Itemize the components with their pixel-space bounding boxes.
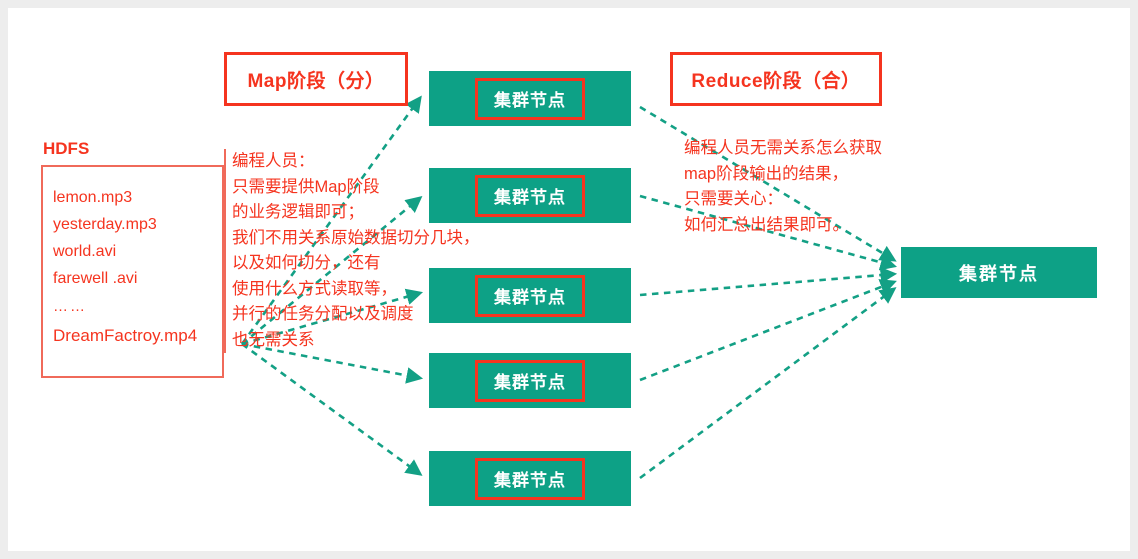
note-line: 以及如何切分，还有 [232,251,442,277]
map-cluster-node: 集群节点 [429,168,631,223]
diagram-stage: Map阶段（分） Reduce阶段（合） HDFS lemon.mp3 yest… [8,8,1138,559]
list-item: lemon.mp3 [53,184,222,211]
map-cluster-node: 集群节点 [429,71,631,126]
node-label: 集群节点 [494,86,566,111]
reduce-phase-box: Reduce阶段（合） [670,52,882,106]
node-label: 集群节点 [494,466,566,491]
note-line: 如何汇总出结果即可。 [684,213,944,239]
list-item: world.avi [53,238,222,265]
node-frame: 集群节点 [959,260,1039,286]
note-line: 只需要关心： [684,187,944,213]
hdfs-file-list: lemon.mp3 yesterday.mp3 world.avi farewe… [41,165,224,378]
reduce-phase-label: Reduce阶段（合） [691,66,860,93]
hdfs-title: HDFS [43,139,89,159]
arrow-merge-3 [640,282,894,380]
list-item-ellipsis: …… [53,292,222,322]
map-cluster-node: 集群节点 [429,451,631,506]
map-cluster-node: 集群节点 [429,268,631,323]
node-highlight-frame: 集群节点 [475,78,585,120]
note-line: 编程人员： [232,149,442,175]
note-line: 的业务逻辑即可； [232,200,442,226]
note-line: 也无需关系 [232,328,442,354]
map-phase-box: Map阶段（分） [224,52,408,106]
node-label: 集群节点 [494,283,566,308]
reduce-phase-note: 编程人员无需关系怎么获取 map阶段输出的结果， 只需要关心： 如何汇总出结果即… [684,136,944,238]
list-item: DreamFactroy.mp4 [53,322,222,349]
node-highlight-frame: 集群节点 [475,360,585,402]
node-highlight-frame: 集群节点 [475,275,585,317]
list-item: farewell .avi [53,265,222,292]
node-label: 集群节点 [494,368,566,393]
note-line: 使用什么方式读取等， [232,277,442,303]
arrow-split-4 [242,344,420,474]
node-highlight-frame: 集群节点 [475,175,585,217]
node-highlight-frame: 集群节点 [475,458,585,500]
note-line: 并行的任务分配以及调度 [232,302,442,328]
note-line: 编程人员无需关系怎么获取 [684,136,944,162]
node-label: 集群节点 [959,260,1039,286]
map-phase-note: 编程人员： 只需要提供Map阶段 的业务逻辑即可； 我们不用关系原始数据切分几块… [224,149,442,353]
node-label: 集群节点 [494,183,566,208]
note-line: map阶段输出的结果， [684,162,944,188]
map-cluster-node: 集群节点 [429,353,631,408]
diagram-canvas: Map阶段（分） Reduce阶段（合） HDFS lemon.mp3 yest… [0,0,1138,559]
arrow-merge-4 [640,289,894,478]
reduce-cluster-node: 集群节点 [901,247,1097,298]
map-phase-label: Map阶段（分） [247,66,384,93]
list-item: yesterday.mp3 [53,211,222,238]
note-line: 我们不用关系原始数据切分几块， [232,226,442,252]
arrow-merge-2 [640,274,894,295]
note-line: 只需要提供Map阶段 [232,175,442,201]
